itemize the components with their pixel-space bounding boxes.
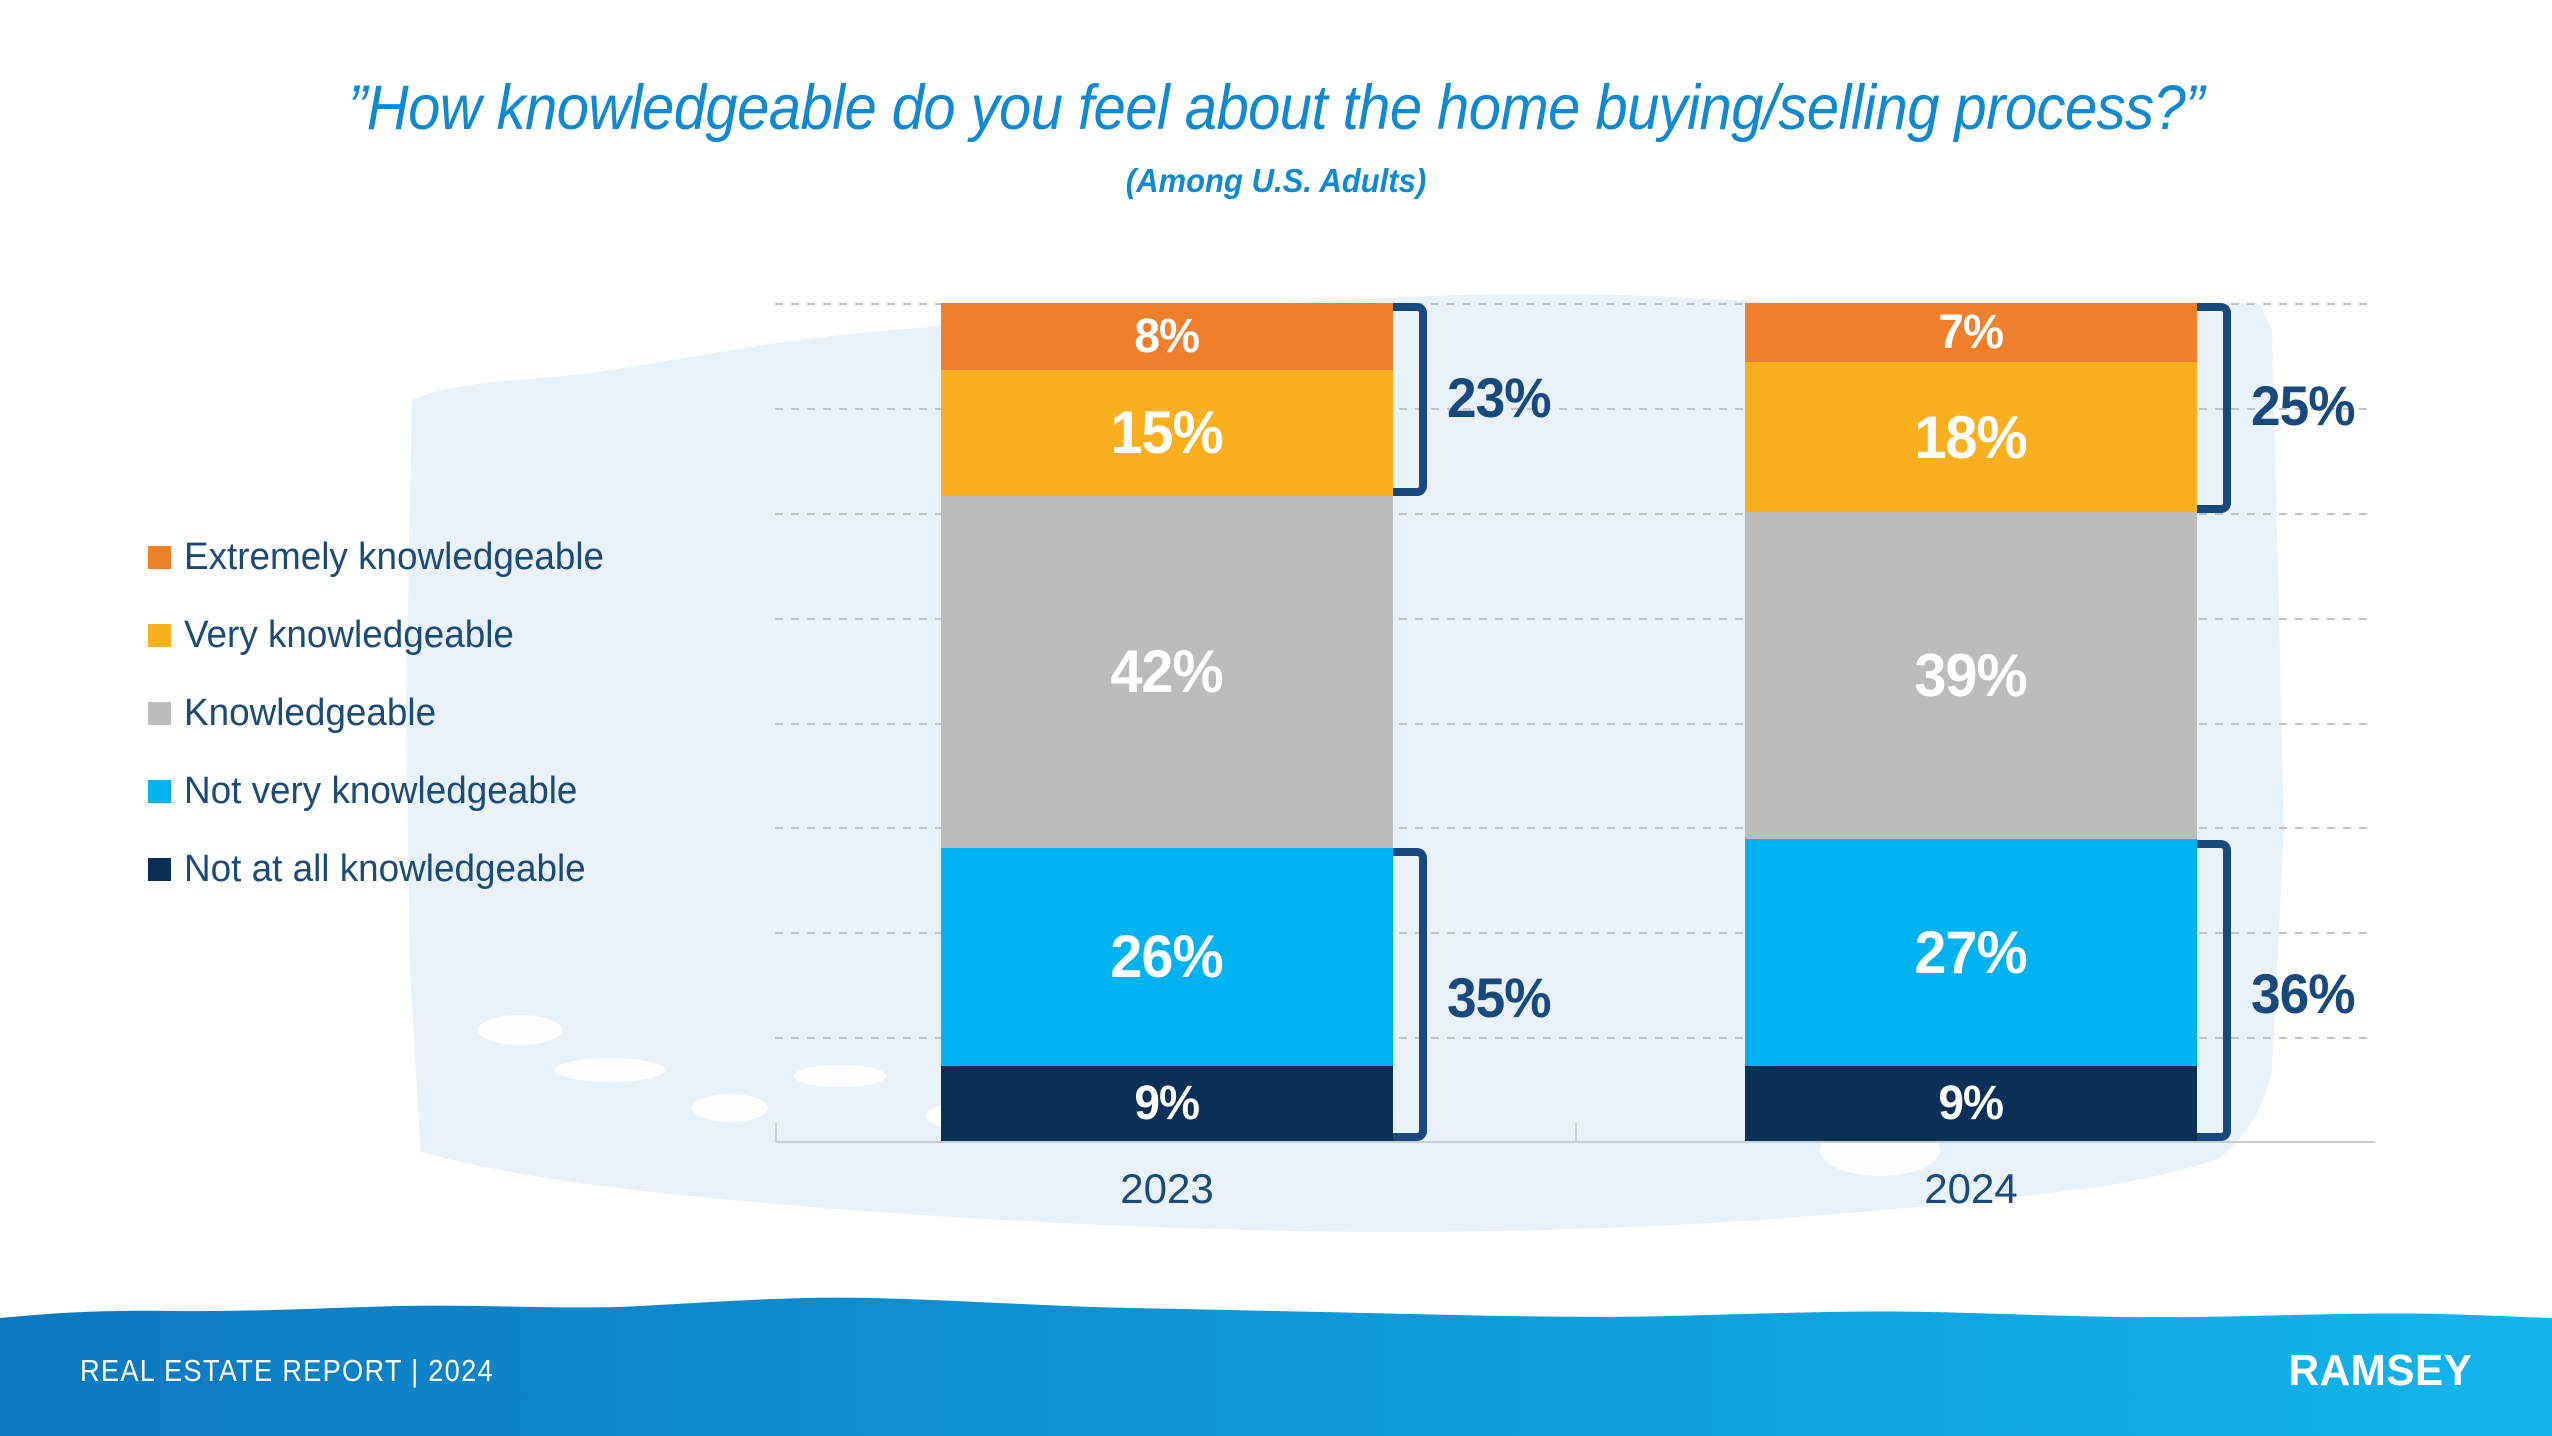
x-axis-tick	[1575, 1123, 1577, 1143]
bar-segment-label: 9%	[1939, 1076, 2004, 1131]
legend-item-label: Not at all knowledgeable	[184, 848, 586, 891]
bar-segment-extremely-knowledgeable[interactable]: 8%	[941, 303, 1393, 370]
bar-group-2024: 7% 18% 39% 27% 9% 25% 36% 2024	[1745, 303, 2197, 1141]
bracket-bottom-2024	[2197, 840, 2231, 1141]
bar-segment-knowledgeable[interactable]: 42%	[941, 496, 1393, 848]
bar-segment-not-very-knowledgeable[interactable]: 27%	[1745, 839, 2197, 1065]
bar-segment-not-at-all-knowledgeable[interactable]: 9%	[941, 1066, 1393, 1141]
legend-item-label: Knowledgeable	[184, 692, 436, 735]
bar-segment-very-knowledgeable[interactable]: 18%	[1745, 362, 2197, 513]
stacked-bar-2023: 8% 15% 42% 26% 9%	[941, 303, 1393, 1141]
chart-subtitle: (Among U.S. Adults)	[77, 144, 2476, 200]
bar-segment-label: 26%	[1111, 922, 1223, 991]
legend-item-not-very-knowledgeable[interactable]: Not very knowledgeable	[148, 752, 617, 830]
bar-segment-very-knowledgeable[interactable]: 15%	[941, 370, 1393, 496]
legend-item-label: Extremely knowledgeable	[184, 536, 604, 579]
chart-header: ”How knowledgeable do you feel about the…	[0, 0, 2552, 250]
legend-swatch-icon	[148, 858, 171, 881]
bar-segment-not-very-knowledgeable[interactable]: 26%	[941, 848, 1393, 1066]
chart-plot-area: 8% 15% 42% 26% 9% 23% 35% 2023 7%	[775, 303, 2375, 1141]
bracket-top-2024	[2197, 303, 2231, 513]
bar-segment-label: 27%	[1915, 918, 2027, 987]
bracket-label-bottom-2024: 36%	[2251, 961, 2355, 1026]
footer-bar: REAL ESTATE REPORT | 2024 RAMSEY	[0, 1306, 2552, 1436]
legend-swatch-icon	[148, 546, 171, 569]
legend-swatch-icon	[148, 780, 171, 803]
chart-legend: Extremely knowledgeable Very knowledgeab…	[148, 518, 617, 908]
bar-group-2023: 8% 15% 42% 26% 9% 23% 35% 2023	[941, 303, 1393, 1141]
bar-segment-label: 39%	[1915, 641, 2027, 710]
bar-segment-label: 7%	[1939, 305, 2004, 360]
bracket-bottom-2023	[1393, 848, 1427, 1141]
bar-segment-not-at-all-knowledgeable[interactable]: 9%	[1745, 1066, 2197, 1141]
x-axis-category-label-2023: 2023	[941, 1165, 1393, 1213]
bracket-label-top-2023: 23%	[1447, 365, 1551, 430]
bracket-label-top-2024: 25%	[2251, 373, 2355, 438]
page-title: ”How knowledgeable do you feel about the…	[102, 0, 2450, 144]
bar-segment-label: 15%	[1111, 398, 1223, 467]
legend-swatch-icon	[148, 624, 171, 647]
bar-segment-label: 8%	[1135, 309, 1200, 364]
bar-segment-label: 42%	[1111, 637, 1223, 706]
bar-segment-label: 18%	[1915, 403, 2027, 472]
bracket-top-2023	[1393, 303, 1427, 496]
ramsey-logo: RAMSEY	[2288, 1346, 2472, 1396]
legend-item-label: Not very knowledgeable	[184, 770, 577, 813]
legend-item-very-knowledgeable[interactable]: Very knowledgeable	[148, 596, 617, 674]
x-axis-tick	[775, 1123, 777, 1143]
legend-item-extremely-knowledgeable[interactable]: Extremely knowledgeable	[148, 518, 617, 596]
legend-item-not-at-all-knowledgeable[interactable]: Not at all knowledgeable	[148, 830, 617, 908]
stacked-bar-2024: 7% 18% 39% 27% 9%	[1745, 303, 2197, 1141]
footer-report-label: REAL ESTATE REPORT | 2024	[80, 1353, 494, 1389]
legend-item-knowledgeable[interactable]: Knowledgeable	[148, 674, 617, 752]
legend-item-label: Very knowledgeable	[184, 614, 514, 657]
legend-swatch-icon	[148, 702, 171, 725]
bar-segment-knowledgeable[interactable]: 39%	[1745, 512, 2197, 839]
bracket-label-bottom-2023: 35%	[1447, 965, 1551, 1030]
bar-segment-label: 9%	[1135, 1076, 1200, 1131]
bar-segment-extremely-knowledgeable[interactable]: 7%	[1745, 303, 2197, 362]
x-axis-category-label-2024: 2024	[1745, 1165, 2197, 1213]
